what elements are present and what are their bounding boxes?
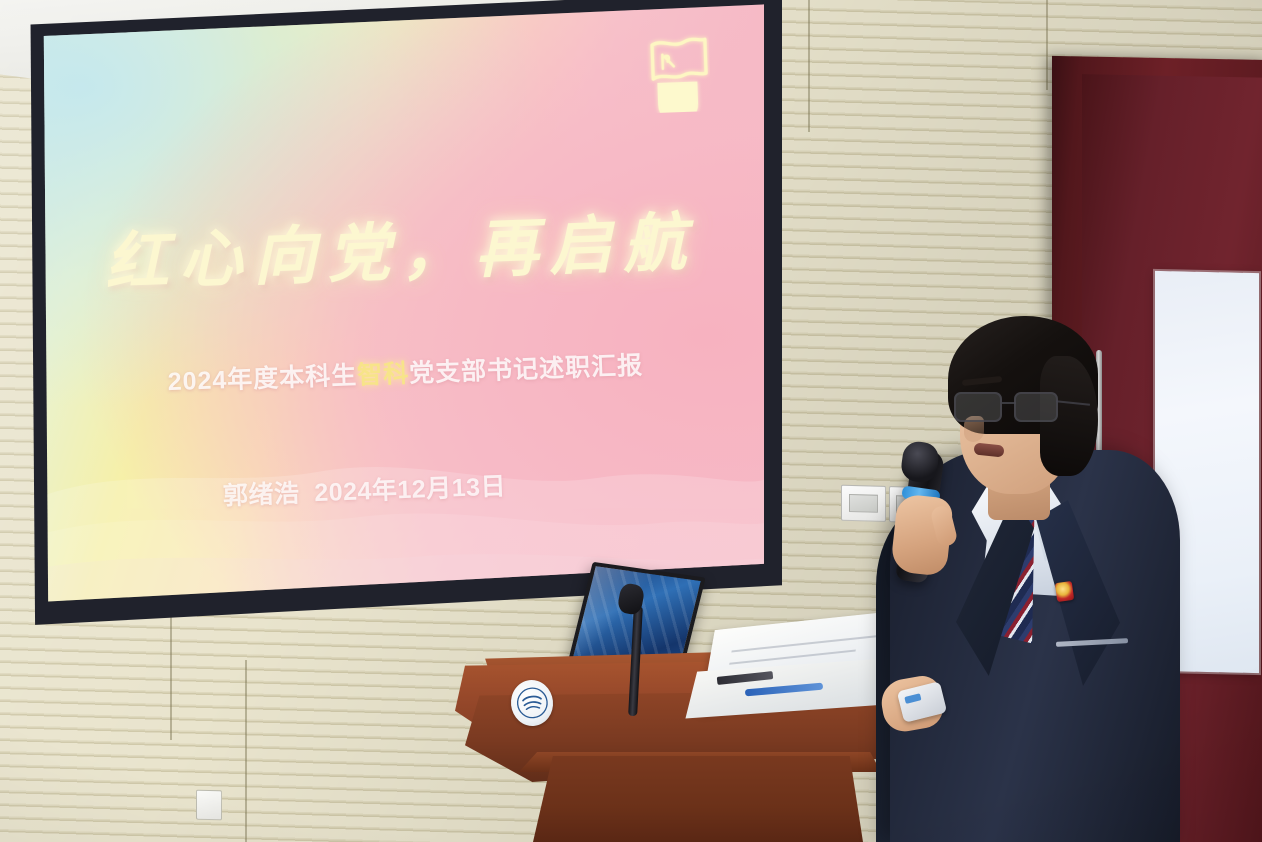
wall-outlet[interactable]: [196, 790, 222, 821]
eyeglass-lens-left: [954, 392, 1002, 422]
podium-base: [533, 756, 863, 842]
slide-subtitle-prefix: 2024年度本科生: [167, 362, 357, 397]
wall-panel-seam: [245, 660, 247, 842]
slide-title: 红心向党，再启航: [75, 191, 728, 305]
wall-panel-seam: [1046, 0, 1048, 90]
presentation-scene: 红心向党，再启航 2024年度本科生智科党支部书记述职汇报 郭绪浩 2024年1…: [0, 0, 1262, 842]
party-member-badge: [1055, 581, 1074, 602]
slide-subtitle: 2024年度本科生智科党支部书记述职汇报: [80, 343, 731, 402]
slide-byline: 郭绪浩 2024年12月13日: [84, 462, 645, 518]
cpc-party-flag-emblem: [642, 25, 711, 113]
slide-subtitle-highlight: 智科: [357, 360, 410, 390]
eyeglass-bridge: [1002, 402, 1016, 404]
presenter: [860, 300, 1190, 842]
presenter-name: 郭绪浩: [222, 480, 299, 511]
projection-screen: 红心向党，再启航 2024年度本科生智科党支部书记述职汇报 郭绪浩 2024年1…: [38, 2, 764, 610]
wall-panel-seam: [170, 600, 172, 740]
slide-subtitle-suffix: 党支部书记述职汇报: [409, 352, 644, 388]
eyeglasses: [952, 390, 1084, 426]
presenter-head: [948, 316, 1094, 502]
eyeglass-lens-right: [1014, 392, 1058, 422]
wall-panel-seam: [808, 0, 810, 132]
slide-content: 红心向党，再启航 2024年度本科生智科党支部书记述职汇报 郭绪浩 2024年1…: [38, 2, 764, 610]
slide-date: 2024年12月13日: [314, 472, 507, 507]
